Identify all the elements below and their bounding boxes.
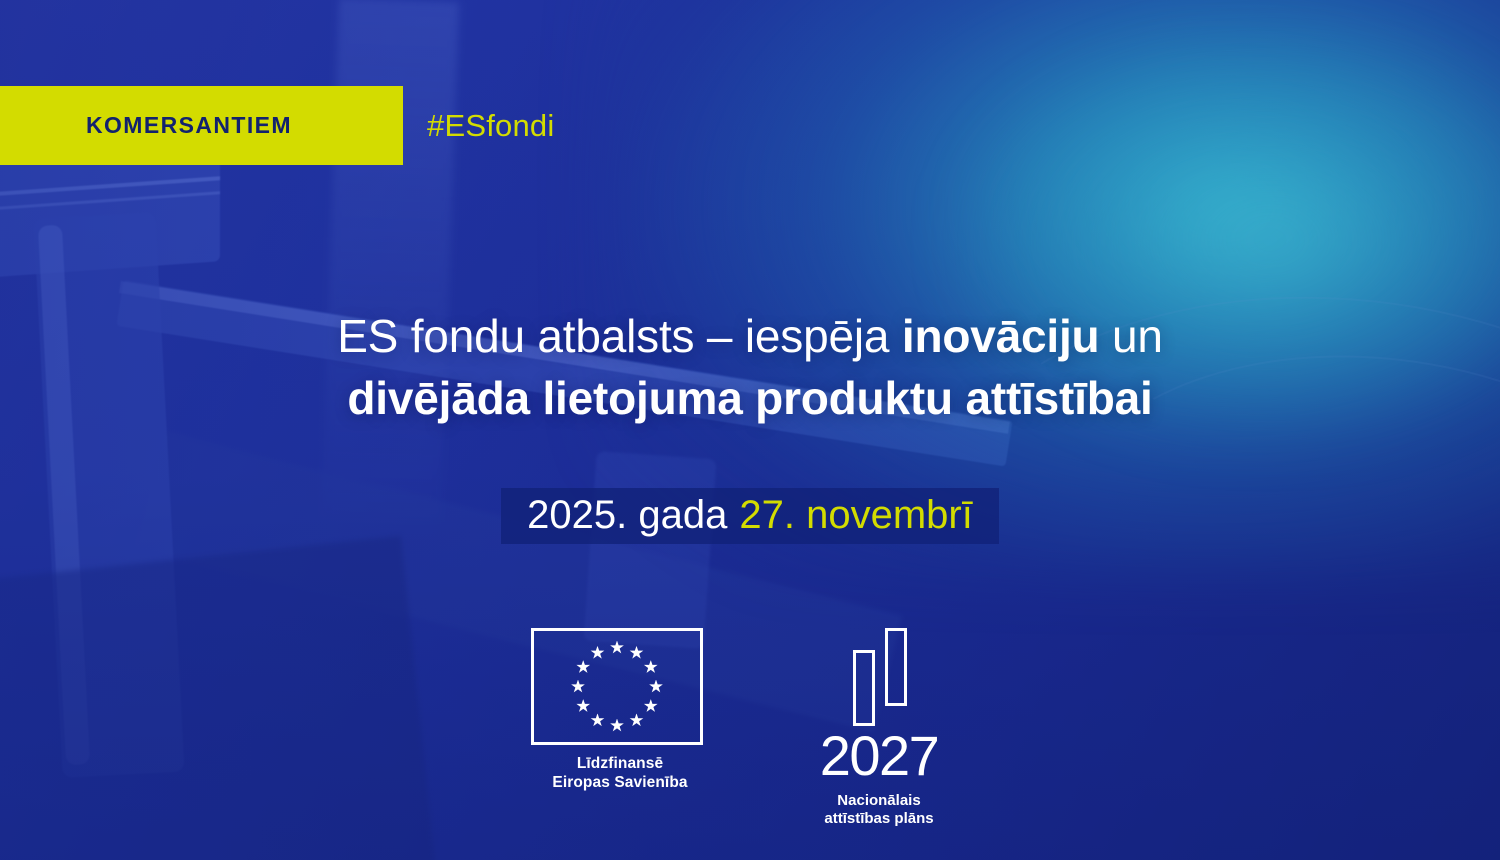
- np-logo-caption: Nacionālais attīstības plāns: [824, 792, 933, 828]
- event-date-day: 27. novembrī: [739, 493, 972, 537]
- headline-line1-part1: ES fondu atbalsts – iespēja: [337, 310, 902, 362]
- audience-badge-label: KOMERSANTIEM: [86, 112, 292, 139]
- eu-logo-caption: Līdzfinansē Eiropas Savienība: [531, 754, 709, 792]
- kicker-row: KOMERSANTIEM #ESfondi: [0, 86, 554, 165]
- np-caption-line-2: attīstības plāns: [824, 810, 933, 828]
- eu-cofunded-logo: Līdzfinansē Eiropas Savienība: [531, 628, 709, 792]
- eu-star-icon: [649, 680, 663, 694]
- np-bar-right-icon: [885, 628, 907, 706]
- eu-star-icon: [576, 699, 590, 713]
- national-development-plan-logo: 2027 Nacionālais attīstības plāns: [789, 628, 969, 828]
- eu-star-icon: [644, 699, 658, 713]
- np-year-label: 2027: [820, 728, 939, 784]
- event-date-box: 2025. gada27. novembrī: [501, 488, 999, 544]
- eu-flag-icon: [531, 628, 703, 745]
- headline-line-2: divējāda lietojuma produktu attīstībai: [0, 367, 1500, 429]
- eu-star-icon: [591, 646, 605, 660]
- headline-line1-part2: un: [1099, 310, 1162, 362]
- eu-star-icon: [591, 713, 605, 727]
- headline-line1-emphasis: inovāciju: [902, 310, 1100, 362]
- banner-content: KOMERSANTIEM #ESfondi ES fondu atbalsts …: [0, 0, 1500, 860]
- eu-star-icon: [571, 680, 585, 694]
- eu-caption-line-2: Eiropas Savienība: [531, 773, 709, 792]
- event-date-wrapper: 2025. gada27. novembrī: [0, 488, 1500, 544]
- headline-line-1: ES fondu atbalsts – iespēja inovāciju un: [0, 305, 1500, 367]
- eu-star-icon: [644, 660, 658, 674]
- eu-stars-circle: [578, 648, 656, 726]
- eu-star-icon: [630, 713, 644, 727]
- eu-caption-line-1: Līdzfinansē: [531, 754, 709, 773]
- np-bar-left-icon: [853, 650, 875, 726]
- event-date-year: 2025. gada: [527, 493, 727, 537]
- np-caption-line-1: Nacionālais: [824, 792, 933, 810]
- eu-star-icon: [630, 646, 644, 660]
- eu-star-icon: [610, 641, 624, 655]
- logo-row: Līdzfinansē Eiropas Savienība 2027 Nacio…: [0, 628, 1500, 828]
- audience-badge: KOMERSANTIEM: [0, 86, 403, 165]
- page-title: ES fondu atbalsts – iespēja inovāciju un…: [0, 305, 1500, 429]
- event-promo-banner: KOMERSANTIEM #ESfondi ES fondu atbalsts …: [0, 0, 1500, 860]
- eu-star-icon: [576, 660, 590, 674]
- hashtag-label: #ESfondi: [427, 108, 554, 144]
- np-bars-icon: [847, 628, 911, 726]
- eu-star-icon: [610, 719, 624, 733]
